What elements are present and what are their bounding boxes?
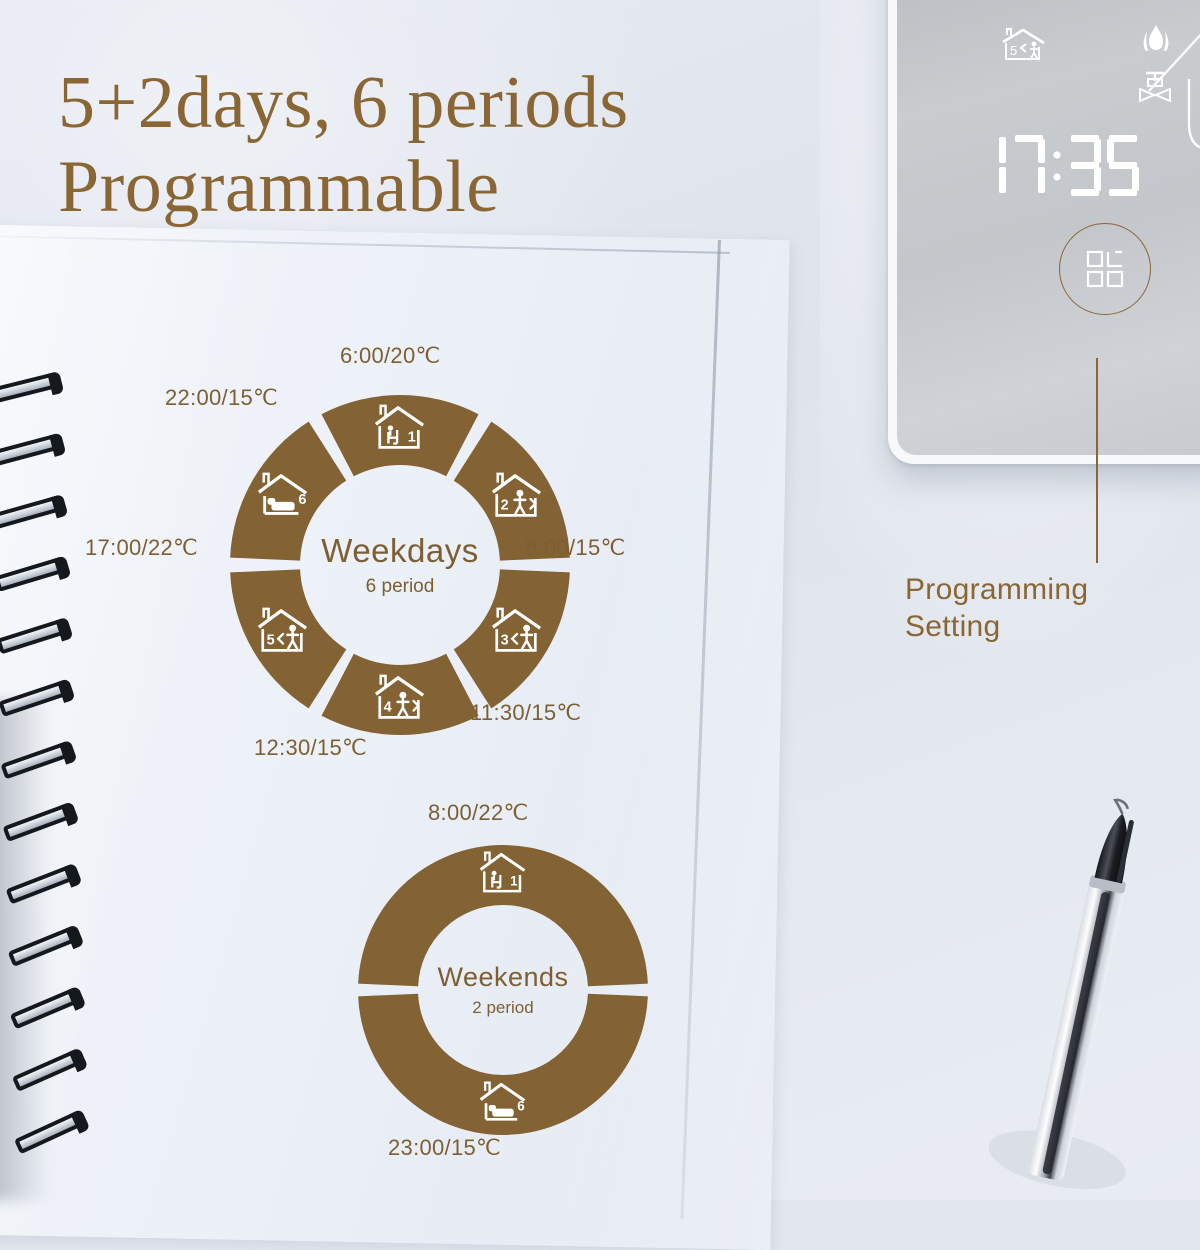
callout-line-2: Setting <box>905 609 1088 646</box>
spiral-coil <box>0 556 67 592</box>
callout-leader-line <box>1096 358 1098 563</box>
schedule-label-period-1: 8:00/22℃ <box>428 800 529 826</box>
donut-segment-period-5 <box>230 569 346 708</box>
spiral-coil <box>0 433 63 467</box>
donut-segment-period-1 <box>358 845 648 986</box>
weekdays-donut-svg <box>230 395 570 735</box>
schedule-label-period-6: 22:00/15℃ <box>165 385 278 411</box>
ballpoint-pen <box>975 790 1195 1190</box>
spiral-coil <box>7 925 80 967</box>
programming-setting-button[interactable] <box>1059 223 1151 315</box>
page-title: 5+2days, 6 periods Programmable <box>58 62 888 229</box>
spiral-coil <box>0 617 70 654</box>
spiral-coil <box>14 1110 86 1155</box>
thermostat-screen[interactable]: 5 <box>897 0 1200 455</box>
spiral-coil <box>12 1048 84 1092</box>
weekends-donut-svg <box>358 845 648 1135</box>
clock-seven-segment <box>993 133 1141 199</box>
headline-line-1: 5+2days, 6 periods <box>58 62 888 146</box>
spiral-coil <box>0 679 72 717</box>
flame-icon <box>1139 23 1173 70</box>
donut-segment-period-6 <box>358 994 648 1135</box>
headline-line-2: Programmable <box>58 146 888 230</box>
spiral-coil <box>3 802 76 842</box>
callout-line-1: Programming <box>905 572 1088 609</box>
spiral-coil <box>0 495 65 530</box>
four-squares-program-icon <box>1085 249 1125 289</box>
spiral-coil <box>1 740 74 779</box>
thermostat-device[interactable]: 5 <box>888 0 1200 464</box>
clock-display <box>993 133 1141 203</box>
valve-icon <box>1134 71 1176 110</box>
house-period-5-icon: 5 <box>1001 27 1047 70</box>
schedule-label-period-3: 11:30/15℃ <box>470 700 581 726</box>
donut-segment-period-4 <box>322 654 479 735</box>
schedule-label-period-1: 6:00/20℃ <box>340 343 441 369</box>
schedule-label-period-4: 12:30/15℃ <box>254 735 367 761</box>
schedule-label-period-6: 23:00/15℃ <box>388 1135 501 1161</box>
weekends-schedule-chart: Weekends 2 period 18:00/22℃623:00/15℃ <box>358 845 648 1135</box>
spiral-coil <box>5 864 78 905</box>
schedule-label-period-5: 17:00/22℃ <box>85 535 198 561</box>
spiral-coil <box>10 987 83 1030</box>
programming-setting-callout: Programming Setting <box>905 572 1088 645</box>
donut-segment-period-6 <box>230 422 346 561</box>
schedule-label-period-2: 8:00/15℃ <box>525 535 626 561</box>
svg-text:5: 5 <box>1010 43 1017 58</box>
weekdays-schedule-chart: Weekdays 6 period 16:00/20℃28:00/15℃311:… <box>230 395 570 735</box>
donut-segment-period-3 <box>454 569 570 708</box>
donut-segment-period-1 <box>322 395 479 476</box>
spiral-binding <box>0 380 104 1200</box>
